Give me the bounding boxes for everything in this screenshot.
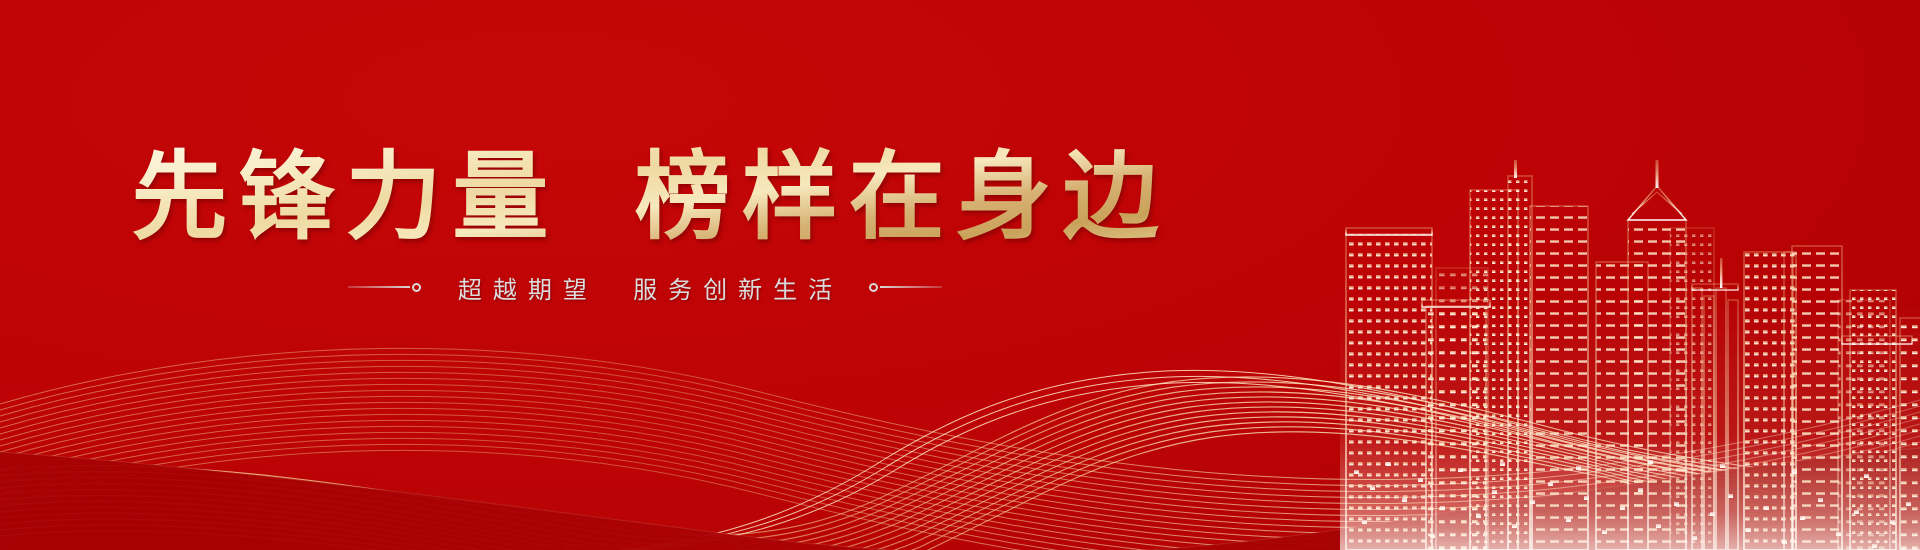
page-title: 先锋力量 榜样在身边	[120, 146, 1169, 250]
left-circle-marker-icon	[412, 283, 421, 292]
right-rule-decoration	[869, 283, 942, 292]
left-rule-line	[348, 286, 410, 288]
city-skyline-graphic	[1340, 0, 1920, 550]
subtitle-row: 超越期望 服务创新生活	[348, 270, 942, 305]
promotional-banner: 先锋力量 榜样在身边 超越期望 服务创新生活	[0, 0, 1920, 550]
page-subtitle: 超越期望 服务创新生活	[433, 270, 857, 305]
headline-block: 先锋力量 榜样在身边 超越期望 服务创新生活	[0, 146, 1290, 305]
right-rule-line	[880, 286, 942, 288]
left-rule-decoration	[348, 283, 421, 292]
right-circle-marker-icon	[869, 283, 878, 292]
